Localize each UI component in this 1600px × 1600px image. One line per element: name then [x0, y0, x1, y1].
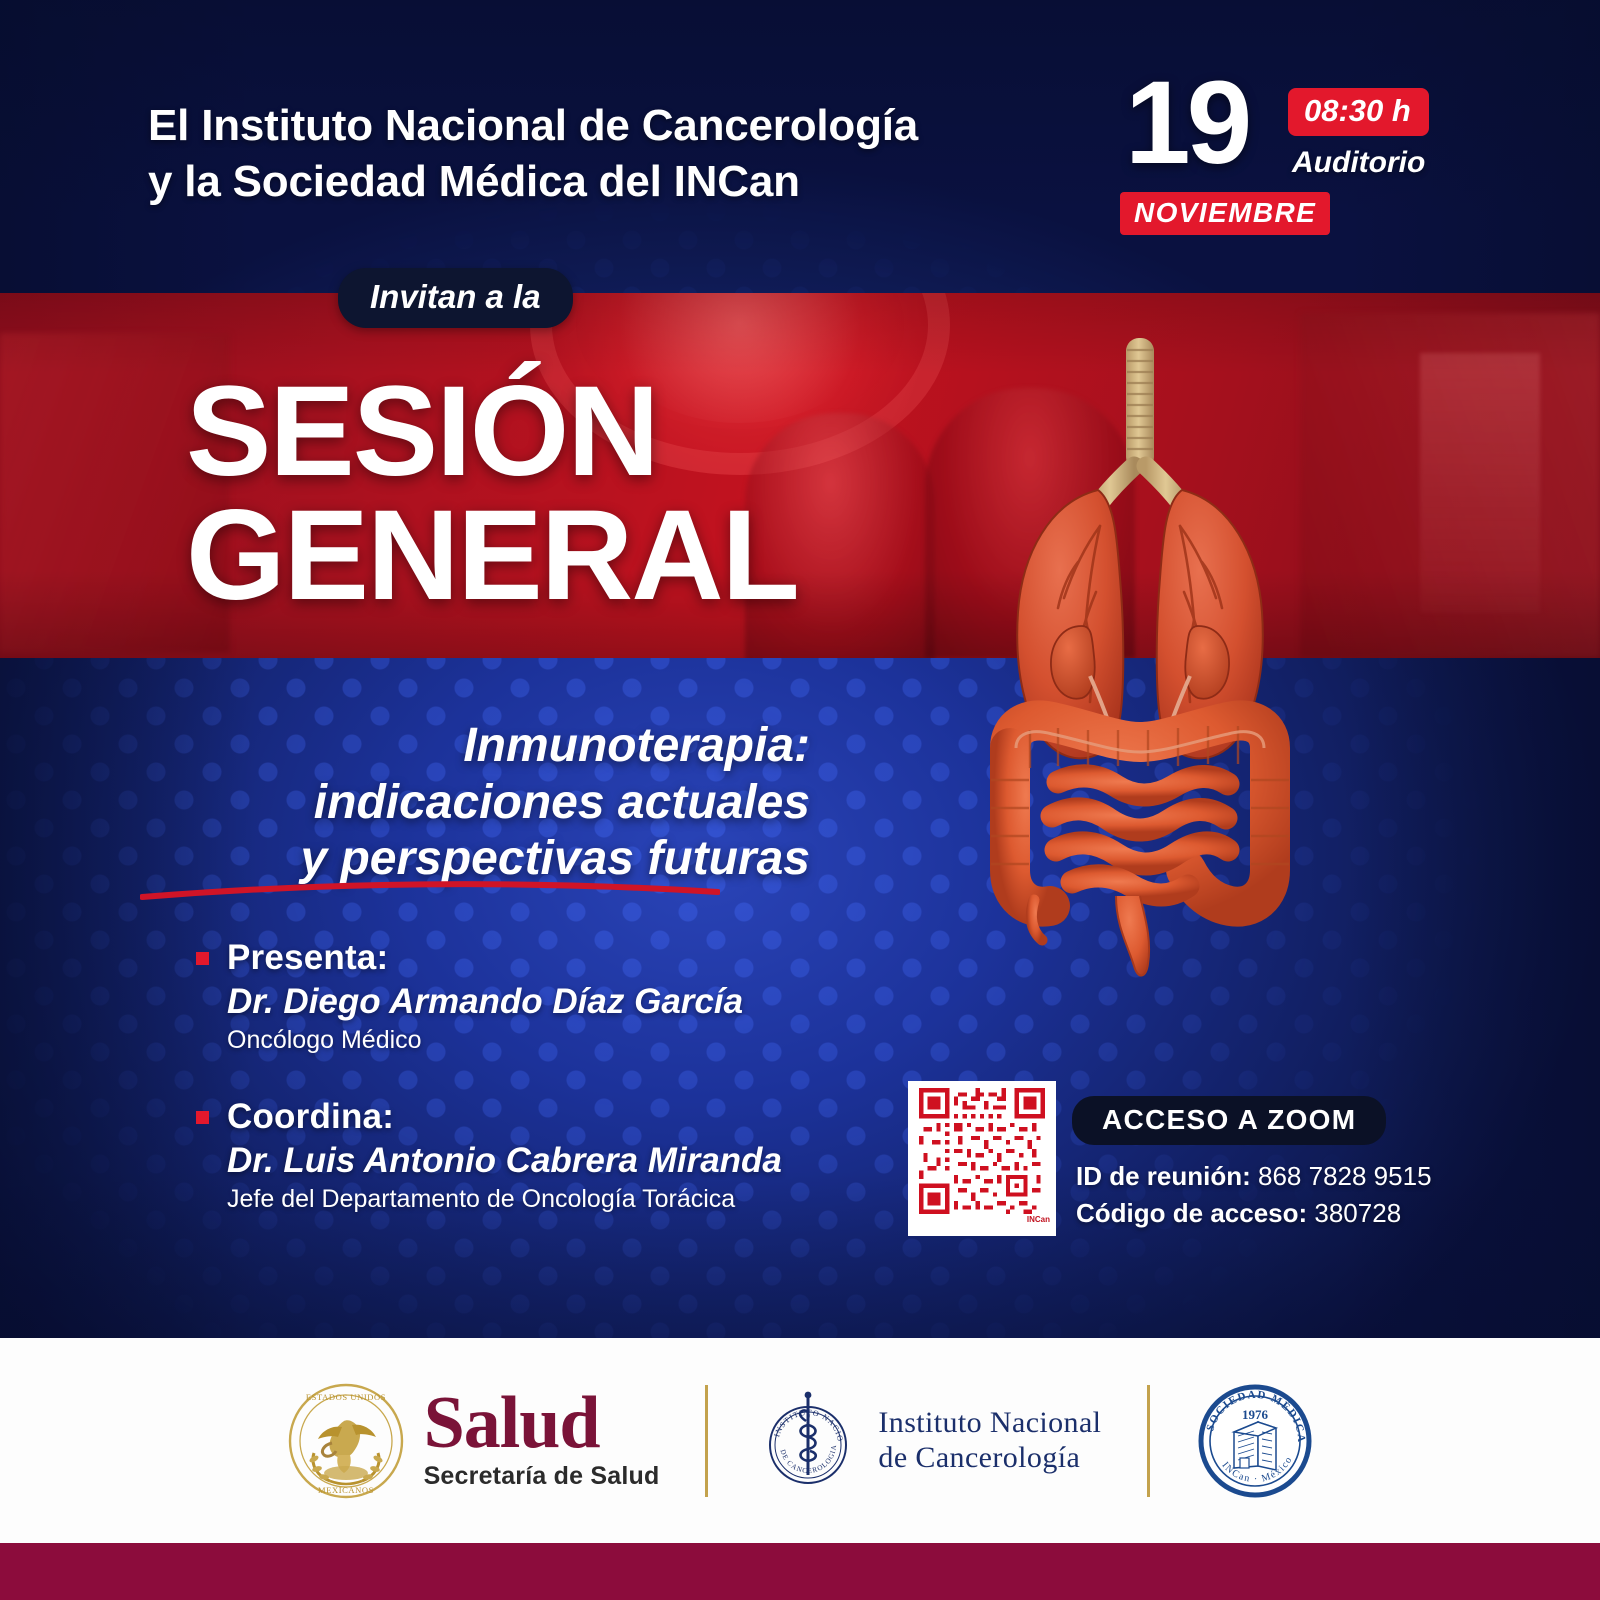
- event-time-badge: 08:30 h: [1288, 88, 1429, 136]
- mexico-coat-of-arms-icon: ESTADOS UNIDOS MEXICANOS: [286, 1381, 406, 1501]
- incan-wordmark-line-2: de Cancerología: [878, 1441, 1101, 1476]
- header-line-1: El Instituto Nacional de Cancerología: [148, 98, 1008, 154]
- qr-code[interactable]: INCan: [908, 1081, 1056, 1236]
- seal-year: 1976: [1242, 1407, 1269, 1422]
- coordinator-role-row: Coordina:: [196, 1097, 816, 1137]
- event-subtitle: Inmunoterapia: indicaciones actuales y p…: [170, 718, 810, 888]
- bullet-square-icon: [196, 1111, 209, 1124]
- qr-caption: INCan: [1027, 1215, 1050, 1224]
- zoom-access-heading: ACCESO A ZOOM: [1072, 1096, 1386, 1145]
- zoom-meeting-id-label: ID de reunión:: [1076, 1161, 1251, 1191]
- subtitle-line-1: Inmunoterapia:: [170, 718, 810, 775]
- logo-secretaria-salud: ESTADOS UNIDOS MEXICANOS: [286, 1381, 660, 1501]
- event-poster: El Instituto Nacional de Cancerología y …: [0, 0, 1600, 1600]
- speaker-presenter: Presenta: Dr. Diego Armando Díaz García …: [196, 938, 816, 1055]
- coordinator-role-label: Coordina:: [227, 1097, 394, 1137]
- presenter-role-label: Presenta:: [227, 938, 388, 978]
- event-venue: Auditorio: [1292, 146, 1425, 180]
- svg-text:DE CANCEROLOGIA · México: DE CANCEROLOGIA · México: [754, 1387, 838, 1475]
- incan-seal-icon: INSTITUTO NACIONAL DE CANCEROLOGIA · Méx…: [754, 1387, 862, 1495]
- footer-divider: [705, 1385, 708, 1497]
- svg-text:ESTADOS UNIDOS: ESTADOS UNIDOS: [305, 1392, 385, 1402]
- sociedad-medica-seal-icon: SOCIEDAD MÉDICA INCan · México 1976: [1196, 1382, 1314, 1500]
- svg-text:MEXICANOS: MEXICANOS: [318, 1485, 374, 1495]
- zoom-passcode-label: Código de acceso:: [1076, 1198, 1307, 1228]
- event-title-line-2: GENERAL: [186, 494, 798, 618]
- zoom-meeting-id-row: ID de reunión: 868 7828 9515: [1076, 1158, 1432, 1195]
- coordinator-name: Dr. Luis Antonio Cabrera Miranda: [227, 1141, 816, 1181]
- presenter-name: Dr. Diego Armando Díaz García: [227, 982, 816, 1022]
- header-line-2: y la Sociedad Médica del INCan: [148, 154, 1008, 210]
- bullet-square-icon: [196, 952, 209, 965]
- qr-code-image: [919, 1088, 1045, 1214]
- logo-instituto-nacional-cancerologia: INSTITUTO NACIONAL DE CANCEROLOGIA · Méx…: [754, 1387, 1101, 1495]
- salud-wordmark: Salud: [424, 1390, 660, 1457]
- zoom-credentials: ID de reunión: 868 7828 9515 Código de a…: [1076, 1158, 1432, 1232]
- date-month-badge: NOVIEMBRE: [1120, 192, 1330, 235]
- date-day: 19: [1125, 64, 1248, 182]
- event-title: SESIÓN GENERAL: [186, 370, 798, 618]
- footer-logo-bar: ESTADOS UNIDOS MEXICANOS: [0, 1338, 1600, 1543]
- speakers-section: Presenta: Dr. Diego Armando Díaz García …: [196, 938, 816, 1256]
- subtitle-underline: [140, 878, 720, 900]
- presenter-title: Oncólogo Médico: [227, 1026, 816, 1055]
- salud-subtitle: Secretaría de Salud: [424, 1462, 660, 1491]
- anatomy-illustration: [930, 330, 1350, 980]
- subtitle-line-2: indicaciones actuales: [170, 775, 810, 832]
- zoom-passcode-value: 380728: [1314, 1198, 1401, 1228]
- coordinator-title: Jefe del Departamento de Oncología Torác…: [227, 1185, 816, 1214]
- speaker-coordinator: Coordina: Dr. Luis Antonio Cabrera Miran…: [196, 1097, 816, 1214]
- footer-divider-2: [1147, 1385, 1150, 1497]
- zoom-meeting-id-value: 868 7828 9515: [1258, 1161, 1432, 1191]
- event-title-line-1: SESIÓN: [186, 370, 798, 494]
- speaker-role-row: Presenta:: [196, 938, 816, 978]
- logo-sociedad-medica-incan: SOCIEDAD MÉDICA INCan · México 1976: [1196, 1382, 1314, 1500]
- page-title: El Instituto Nacional de Cancerología y …: [148, 98, 1008, 211]
- or-equipment-right-2: [1420, 353, 1540, 613]
- invitation-pill: Invitan a la: [338, 268, 573, 328]
- bottom-accent-bar: [0, 1543, 1600, 1600]
- zoom-passcode-row: Código de acceso: 380728: [1076, 1195, 1432, 1232]
- date-block: 19 NOVIEMBRE 08:30 h Auditorio: [1110, 62, 1510, 242]
- incan-wordmark-line-1: Instituto Nacional: [878, 1406, 1101, 1441]
